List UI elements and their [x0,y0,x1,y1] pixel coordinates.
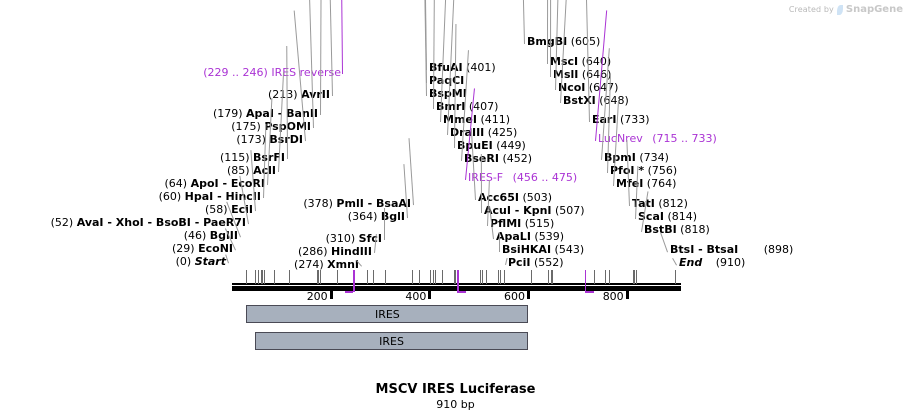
label-position: (115) [220,151,250,164]
leader-line [481,154,482,213]
primer-tick-2 [585,270,587,292]
label-name: MscI [550,55,578,68]
label-name: EcoNI [198,242,233,255]
label-position: (378) [303,197,333,210]
cut-site-tick [498,270,499,284]
leader-line [286,46,288,159]
label-end[interactable]: End (910) [679,257,745,269]
label-bgli[interactable]: (364) BglI [348,211,405,223]
label-name: AvaI - XhoI - BsoBI - PaeR7I [77,216,246,229]
cut-site-tick [442,270,443,284]
label-name: ApaLI [496,230,531,243]
label-name: HindIII [331,245,372,258]
ruler-tick-label: 600 [504,290,525,303]
feature-bar-ires[interactable]: IRES [255,332,529,350]
label-position: (60) [159,190,182,203]
label-hpai-hincii[interactable]: (60) HpaI - HincII [159,191,261,203]
label-name: Start [195,255,226,268]
cut-site-tick [320,270,321,284]
label-name: BglII [210,229,238,242]
cut-site-tick [504,270,505,284]
label-position: (818) [680,223,710,236]
label-start[interactable]: (0) Start [176,256,226,268]
label-name: BstXI [563,94,596,107]
cut-site-tick [246,270,247,284]
cut-site-tick [337,270,338,284]
label-position: (605) [571,35,601,48]
cut-site-tick [500,270,501,284]
cut-site-tick [609,270,610,284]
ruler-major-tick [626,291,629,299]
label-name: PaqCI [429,74,464,87]
label-name: MslI [553,68,578,81]
ruler-major-tick [527,291,530,299]
primer-tick-0 [353,270,355,292]
label-position: (364) [348,210,378,223]
label-position: (175) [231,120,261,133]
label-pfoi[interactable]: PfoI * (756) [610,165,677,177]
label-position: (539) [534,230,564,243]
label-position: (756) [648,164,678,177]
label-bstbi[interactable]: BstBI (818) [644,224,710,236]
label-name: PflMI [490,217,521,230]
label-bfuai[interactable]: BfuAI (401) [429,62,496,74]
label-ires-f[interactable]: IRES-F (456 .. 475) [468,172,577,184]
cut-site-tick [435,270,436,284]
label-position: (812) [658,197,688,210]
label-scai[interactable]: ScaI (814) [638,211,697,223]
snapgene-credit: Created by SnapGene [789,4,903,15]
leader-line [518,0,525,44]
label-position: (647) [589,81,619,94]
label-mmei[interactable]: MmeI (411) [443,114,510,126]
cut-site-tick [548,270,549,284]
label-sfci[interactable]: (310) SfcI [326,233,382,245]
label-name: MfeI [616,177,643,190]
label-name: HpaI - HincII [185,190,261,203]
feature-bar-ires[interactable]: IRES [246,305,528,323]
label-position: (449) [496,139,526,152]
label-apoi-ecori[interactable]: (64) ApoI - EcoRI [164,178,265,190]
primer-arm-0 [345,291,353,293]
label-position: (179) [213,107,243,120]
label-econi[interactable]: (29) EcoNI [172,243,233,255]
label-bseri[interactable]: BseRI (452) [464,153,532,165]
label-position: (734) [639,151,669,164]
label-paqci[interactable]: PaqCI [429,75,464,87]
leader-line [547,0,548,64]
label-pflmi[interactable]: PflMI (515) [490,218,554,230]
label-position: (411) [480,113,510,126]
label-position: (52) [51,216,74,229]
label-acui-kpni[interactable]: AcuI - KpnI (507) [484,205,585,217]
leader-line [384,208,385,240]
label-position: (507) [555,204,585,217]
cut-site-tick [605,270,606,284]
label-name: End [679,256,702,269]
label-name: PciI [508,256,530,269]
label-position: (310) [326,232,356,245]
cut-site-tick [264,270,265,284]
ruler-tick-label: 200 [307,290,328,303]
cut-site-tick [385,270,386,284]
label-position: (452) [502,152,532,165]
label-position: (64) [164,177,187,190]
cut-site-tick [419,270,420,284]
label-name: AcuI - KpnI [484,204,552,217]
page-title: MSCV IRES Luciferase [0,382,911,397]
cut-site-tick [486,270,487,284]
label-position: (503) [522,191,552,204]
cut-site-tick [367,270,368,284]
label-position: (814) [667,210,697,223]
cut-site-tick [531,270,532,284]
ruler-tick-label: 800 [603,290,624,303]
snapgene-leaf-icon [837,5,843,15]
label-position: (648) [599,94,629,107]
leader-line [408,138,414,205]
label-position: (46) [184,229,207,242]
cut-site-tick [262,270,263,284]
label-name: Acc65I [478,191,519,204]
label-position: (715 .. 733) [652,132,717,145]
label-apali[interactable]: ApaLI (539) [496,231,564,243]
label-position: (401) [466,61,496,74]
label-position: (456 .. 475) [513,171,578,184]
label-name: AvrII [301,88,330,101]
snapgene-brand: SnapGene [846,4,903,15]
label-name: BpmI [604,151,636,164]
label-mfei[interactable]: MfeI (764) [616,178,676,190]
label-position: (85) [227,164,250,177]
ruler-major-tick [330,291,333,299]
label-position: (0) [176,255,192,268]
ruler-tick-label: 400 [405,290,426,303]
label-position: (229 .. 246) [203,66,268,79]
cut-site-tick [373,270,374,284]
leader-line [328,0,333,96]
cut-site-tick [430,270,431,284]
label-name: LucNrev [598,132,643,145]
label-position: (764) [647,177,677,190]
primer-arm-2 [585,291,594,293]
cut-site-tick [255,270,256,284]
leader-line [340,0,343,74]
cut-site-tick [482,270,483,284]
cut-site-tick [480,270,481,284]
label-avai-xhoi-bsobi-paer7i[interactable]: (52) AvaI - XhoI - BsoBI - PaeR7I [51,217,246,229]
label-name: EciI [231,203,253,216]
label-eari[interactable]: EarI (733) [592,114,650,126]
label-position: (173) [236,133,266,146]
cut-site-tick [274,270,275,284]
ruler-major-tick [428,291,431,299]
label-pcii[interactable]: PciI (552) [508,257,564,269]
label-tati[interactable]: TatI (812) [632,198,688,210]
primer-arm-1 [457,291,466,293]
label-position: (898) [764,243,794,256]
leader-line [672,258,677,265]
label-bsihkai[interactable]: BsiHKAI (543) [502,244,584,256]
label-position: (543) [555,243,585,256]
label-name: PmlI - BsaAI [336,197,411,210]
cut-site-tick [636,270,637,284]
label-position: (286) [298,245,328,258]
leader-line [499,232,500,252]
cut-site-tick [455,270,456,284]
cut-site-tick [318,270,319,284]
cut-site-tick [258,270,259,284]
label-hindiii[interactable]: (286) HindIII [298,246,372,258]
label-position: (58) [205,203,228,216]
label-position: (733) [620,113,650,126]
cut-site-tick [675,270,676,284]
label-position: (29) [172,242,195,255]
cut-site-tick [412,270,413,284]
label-position: (552) [534,256,564,269]
label-name: SfcI [359,232,382,245]
label-name: BsiHKAI [502,243,551,256]
label-position: (515) [525,217,555,230]
label-draiii[interactable]: DraIII (425) [450,127,517,139]
label-bmri[interactable]: BmrI (407) [436,101,498,113]
sequence-length: 910 bp [0,398,911,411]
label-xmni[interactable]: (274) XmnI [294,259,359,271]
credit-prefix: Created by [789,5,834,14]
cut-site-tick [634,270,635,284]
label-position: (910) [716,256,746,269]
primer-tick-1 [457,270,459,292]
plasmid-map-canvas: Created by SnapGene (229 .. 246) IRES re… [0,0,911,418]
cut-site-tick [289,270,290,284]
label-btsi-btsai[interactable]: BtsI - BtsaI (898) [670,244,793,256]
label-name: BtsI - BtsaI [670,243,738,256]
cut-site-tick [433,270,434,284]
label-position: (425) [488,126,518,139]
label-bsrfi[interactable]: (115) BsrFI [220,152,285,164]
cut-site-tick [594,270,595,284]
label-pmli-bsaai[interactable]: (378) PmlI - BsaAI [303,198,411,210]
cut-site-tick [552,270,553,284]
